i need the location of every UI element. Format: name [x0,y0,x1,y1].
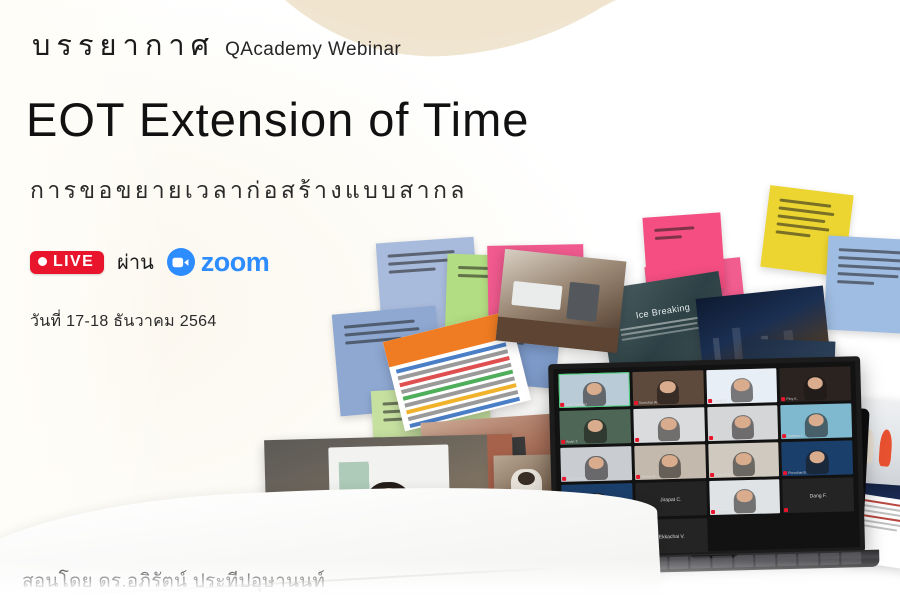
zoom-participant-tile[interactable]: Narong S. [633,407,705,443]
participant-name: Chanon U. [715,509,732,513]
muted-mic-icon [709,436,713,440]
participant-name: Suwat P. [713,399,727,403]
muted-mic-icon [784,508,788,512]
participant-name: Ploy K. [786,397,798,401]
participant-face [736,453,752,465]
eyebrow-thai: บรรยากาศ [32,30,215,62]
participant-face [662,455,678,467]
zoom-participant-tile[interactable]: Somchai W. [632,370,704,406]
zoom-participant-tile[interactable]: Ploy K. [780,366,852,402]
video-camera-icon [167,248,195,276]
zoom-participant-tile[interactable]: Suwat P. [706,368,778,404]
sticky-note-blue-3 [824,236,900,335]
muted-mic-icon [783,471,787,475]
participant-name: Somchai W. [639,400,658,404]
zoom-participant-tile[interactable]: Chanon U. [709,479,781,515]
participant-face [660,381,676,393]
participant-face [661,418,677,430]
muted-mic-icon [782,434,786,438]
participant-name: Dang F. [783,492,854,500]
poster-text-block: บรรยากาศQAcademy Webinar EOT Extension o… [0,0,620,600]
zoom-participant-tile[interactable]: Wichai M. [634,444,706,480]
live-broadcast-row: LIVE ผ่าน zoom [30,246,269,278]
participant-name: Pornchai B. [788,471,807,475]
page-subtitle: การขอขยายเวลาก่อสร้างแบบสากล [30,173,468,209]
muted-mic-icon [710,510,714,514]
participant-name: Nattaya J. [787,434,803,438]
bottom-fade-overlay [0,560,900,600]
zoom-wordmark: zoom [201,249,270,276]
muted-mic-icon [781,397,785,401]
muted-mic-icon [635,438,639,442]
participant-name: Siriporn D. [715,472,732,476]
eyebrow-english: QAcademy Webinar [225,39,401,60]
record-dot-icon [38,257,47,266]
webinar-poster: Ice Breaking [0,0,900,600]
participant-face [735,416,751,428]
zoom-participant-tile[interactable]: Nattaya J. [781,403,853,439]
participant-face [737,490,753,502]
eyebrow: บรรยากาศQAcademy Webinar [32,22,401,68]
via-label: ผ่าน [117,246,154,278]
zoom-logo: zoom [167,248,270,276]
zoom-participant-tile[interactable]: Kittipong R. [707,405,779,441]
live-badge: LIVE [30,251,104,274]
participant-name: Wichai M. [641,474,657,478]
participant-name: Kittipong R. [714,435,733,439]
muted-mic-icon [708,399,712,403]
event-date: วันที่ 17-18 ธันวาคม 2564 [30,309,217,334]
muted-mic-icon [634,401,638,405]
participant-face [734,379,750,391]
zoom-participant-tile[interactable]: Pornchai B. [781,440,853,476]
muted-mic-icon [710,473,714,477]
zoom-participant-tile[interactable]: Siriporn D. [708,442,780,478]
page-title: EOT Extension of Time [26,92,529,147]
zoom-participant-tile[interactable]: Dang F. [782,477,854,513]
live-badge-label: LIVE [53,254,94,270]
participant-name: Narong S. [640,437,656,441]
muted-mic-icon [636,475,640,479]
